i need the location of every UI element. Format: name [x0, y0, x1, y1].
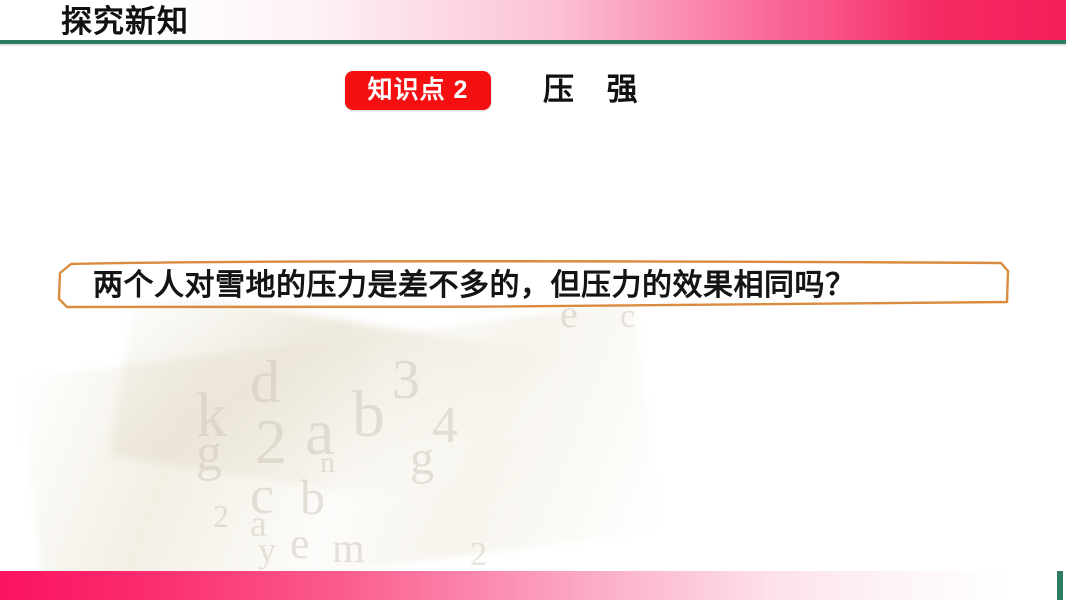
background-watermark: kd2ab34ggncb2aemy2ec: [0, 300, 1066, 590]
watermark-glyph: d: [250, 352, 280, 412]
knowledge-point-badge-label: 知识点 2: [345, 71, 491, 110]
watermark-glyph: g: [196, 428, 222, 480]
page-title: 探究新知: [61, 4, 189, 40]
watermark-glyph: g: [410, 435, 434, 483]
watermark-glyph: e: [290, 522, 310, 566]
watermark-glyph: a: [250, 505, 267, 543]
watermark-letter-glyphs: kd2ab34ggncb2aemy2ec: [0, 300, 1066, 590]
watermark-glyph: 4: [432, 400, 458, 452]
bottom-banner: [0, 571, 1066, 600]
watermark-paper-shape-secondary: [109, 300, 560, 523]
watermark-glyph: b: [300, 472, 325, 522]
watermark-glyph: m: [332, 528, 365, 570]
watermark-glyph: n: [320, 448, 335, 478]
question-text: 两个人对雪地的压力是差不多的，但压力的效果相同吗？: [93, 261, 856, 311]
watermark-glyph: b: [352, 382, 385, 448]
watermark-glyph: 2: [470, 538, 487, 572]
top-banner-rule-shadow: [0, 44, 1066, 46]
slide-canvas: kd2ab34ggncb2aemy2ec 探究新知 知识点 2 压 强 两个人对…: [0, 0, 1066, 600]
knowledge-point-topic: 压 强: [543, 70, 650, 110]
bottom-banner-accent: [1057, 571, 1063, 600]
watermark-glyph: c: [250, 468, 274, 522]
knowledge-point-badge: 知识点 2: [345, 71, 491, 110]
watermark-glyph: 3: [392, 352, 420, 408]
watermark-glyph: k: [196, 385, 227, 447]
watermark-glyph: a: [305, 400, 334, 466]
watermark-paper-shape: [18, 303, 661, 590]
watermark-glyph: y: [258, 532, 276, 568]
question-callout: 两个人对雪地的压力是差不多的，但压力的效果相同吗？: [57, 261, 1010, 311]
watermark-glyph: 2: [255, 410, 287, 474]
watermark-glyph: 2: [213, 500, 229, 532]
